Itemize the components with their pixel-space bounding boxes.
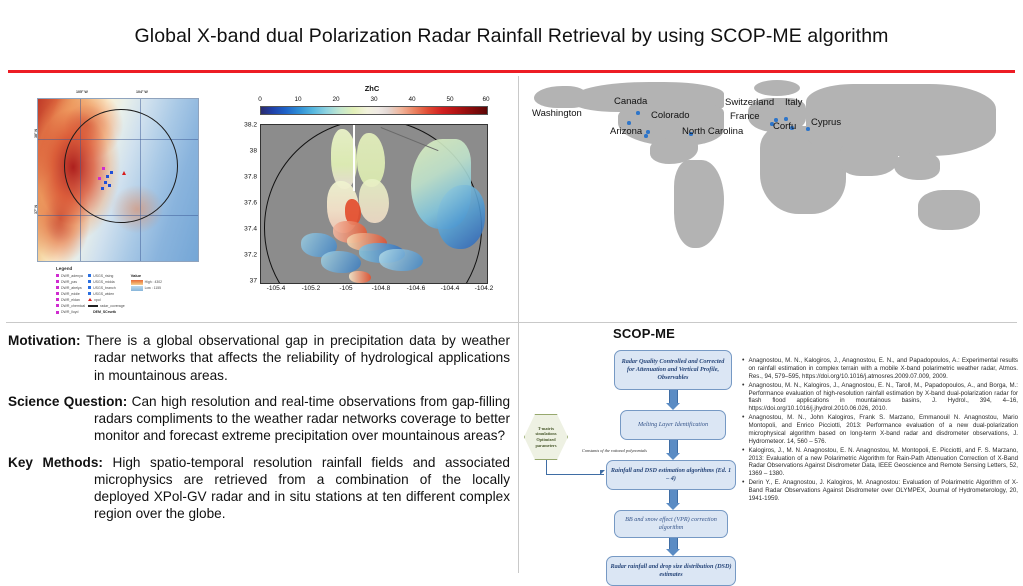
flow-arrow-1-head [666, 403, 680, 410]
science-question-paragraph: Science Question: Can high resolution an… [8, 393, 510, 445]
magenta-square-icon [56, 286, 59, 289]
ppi-y-tick: 37.8 [233, 174, 257, 181]
blue-square-icon [88, 280, 91, 283]
landmass-south-america [674, 160, 724, 248]
legend-label: DWR_eldan [61, 298, 80, 302]
motivation-text: There is a global observational gap in p… [86, 333, 510, 383]
legend-item: DWR_pas [56, 279, 85, 284]
flow-step-5: Radar rainfall and drop size distributio… [606, 556, 736, 586]
low-color-swatch [131, 286, 143, 291]
bullet-icon: • [742, 382, 744, 413]
ppi-x-tick: -105.2 [302, 285, 321, 292]
location-label-washington: Washington [532, 108, 582, 119]
science-question-label: Science Question: [8, 394, 127, 409]
value-title: Value [131, 273, 162, 278]
ppi-y-tick: 37.4 [233, 226, 257, 233]
colorbar-tick: 50 [446, 96, 453, 103]
legend-item: USGS_widen [88, 291, 125, 296]
top-vertical-divider [518, 76, 519, 322]
legend-label: USGS_widen [93, 292, 114, 296]
reference-text: Kalogiros, J., M. N. Anagnostou, E. N. A… [748, 447, 1018, 478]
flow-step-4: BB and snow effect (VPR) correction algo… [614, 510, 728, 538]
reference-text: Anagnostou, M. N., John Kalogiros, Frank… [748, 414, 1018, 445]
blue-square-icon [88, 286, 91, 289]
legend-item: DWR_abelya [56, 285, 85, 290]
ppi-title: ZhC [236, 84, 508, 93]
page-title: Global X-band dual Polarization Radar Ra… [135, 25, 889, 48]
magenta-square-icon [56, 280, 59, 283]
ppi-x-tick: -104.4 [441, 285, 460, 292]
location-label-arizona: Arizona [610, 126, 642, 137]
landmass-india [840, 140, 898, 176]
reference-item: •Anagnostou, M. N., Kalogiros, J., Anagn… [742, 357, 1018, 380]
key-methods-text: High spatio-temporal resolution rainfall… [94, 455, 510, 522]
bullet-icon: • [742, 357, 744, 380]
location-label-italy: Italy [785, 97, 802, 108]
hex-arrow-label: Constants of the rational polynomials [582, 448, 647, 453]
red-triangle-icon [88, 298, 92, 301]
reference-item: •Anagnostou, M. N., Kalogiros, J., Anagn… [742, 382, 1018, 413]
ppi-y-tick: 38 [233, 148, 257, 155]
title-red-divider [8, 70, 1015, 73]
flow-arrow-2-head [666, 453, 680, 460]
station-marker [106, 175, 109, 178]
scop-me-title: SCOP-ME [524, 326, 764, 341]
poster-root: Global X-band dual Polarization Radar Ra… [0, 0, 1023, 574]
location-label-corfu: Corfu [773, 121, 796, 132]
legend-label: xpol [94, 298, 100, 302]
flow-arrow-4-head [666, 549, 680, 556]
bottom-vertical-divider [518, 323, 519, 573]
value-low-row: Low : 1155 [131, 285, 162, 291]
colorbar-tick: 0 [258, 96, 262, 103]
key-methods-label: Key Methods: [8, 455, 103, 470]
station-marker [102, 167, 105, 170]
reflectivity-colorbar [260, 106, 488, 115]
flow-step-1: Radar Quality Controlled and Corrected f… [614, 350, 732, 390]
ppi-y-tick: 37.6 [233, 200, 257, 207]
legend-item: DWR_eddie [56, 291, 85, 296]
legend-title: Legend [56, 266, 204, 271]
legend-item: DWR_lloyd [56, 310, 85, 315]
legend-label: DWR_chemical [61, 304, 85, 308]
world-map-panel: Canada Washington Colorado Arizona North… [522, 78, 1021, 320]
legend-label: radar_coverage [100, 304, 125, 308]
value-high-label: High : 4302 [145, 280, 162, 284]
ppi-x-tick: -105.4 [267, 285, 286, 292]
bullet-icon: • [742, 447, 744, 478]
station-marker [101, 187, 104, 190]
line-icon [88, 305, 98, 306]
terrain-top-label-0: 105° W [76, 90, 88, 94]
colorbar-tick: 60 [482, 96, 489, 103]
legend-item: USGS_branch [88, 285, 125, 290]
reference-item: •Derin Y., E. Anagnostou, J. Kalogiros, … [742, 479, 1018, 502]
location-dot-washington [627, 121, 631, 125]
landmass-southeast-asia [894, 152, 940, 180]
reference-text: Anagnostou, M. N., Kalogiros, J., Anagno… [748, 357, 1018, 380]
radar-coverage-circle [64, 109, 178, 223]
key-methods-paragraph: Key Methods: High spatio-temporal resolu… [8, 454, 510, 523]
value-low-label: Low : 1155 [145, 286, 161, 290]
location-label-colorado: Colorado [651, 110, 690, 121]
colorbar-tick: 30 [370, 96, 377, 103]
terrain-map-panel: 105° W 104° W 38° N 37° N Legend DWR_ade… [24, 86, 204, 318]
ppi-y-tick: 37 [233, 278, 257, 285]
legend-column-2: USGS_rising USGS_midda USGS_branch USGS_… [88, 273, 125, 315]
legend-label: DWR_adenya [61, 274, 83, 278]
reference-text: Anagnostou, M. N., Kalogiros, J., Anagno… [748, 382, 1018, 413]
colorbar-tick: 20 [332, 96, 339, 103]
terrain-legend: Legend DWR_adenya DWR_pas DWR_abelya DWR… [56, 266, 204, 315]
legend-item: DEM_SCrsetk [88, 310, 125, 315]
colorbar-tick: 10 [294, 96, 301, 103]
legend-item: USGS_midda [88, 279, 125, 284]
motivation-label: Motivation: [8, 333, 81, 348]
legend-item: DWR_adenya [56, 273, 85, 278]
echo-region [349, 271, 371, 283]
flow-step-2: Melting Layer Identification [620, 410, 726, 440]
magenta-square-icon [56, 298, 59, 301]
reference-item: •Kalogiros, J., M. N. Anagnostou, E. N. … [742, 447, 1018, 478]
ppi-y-tick: 37.2 [233, 252, 257, 259]
high-color-swatch [131, 280, 143, 285]
ppi-plot-area [260, 124, 488, 284]
spacer-icon [88, 311, 91, 314]
ppi-x-tick: -104.6 [407, 285, 426, 292]
station-marker [108, 184, 111, 187]
location-label-cyprus: Cyprus [811, 117, 841, 128]
terrain-dem-image [37, 98, 199, 262]
location-dot-arizona [644, 134, 648, 138]
blue-square-icon [88, 292, 91, 295]
legend-item: USGS_rising [88, 273, 125, 278]
location-label-canada: Canada [614, 96, 647, 107]
magenta-square-icon [56, 292, 59, 295]
colorbar-tick: 40 [408, 96, 415, 103]
legend-label: DWR_pas [61, 280, 77, 284]
echo-region [359, 179, 389, 223]
location-dot-canada [636, 111, 640, 115]
station-marker [98, 177, 101, 180]
legend-item: xpol [88, 297, 125, 302]
legend-label: USGS_branch [93, 286, 116, 290]
legend-label: DWR_eddie [61, 292, 80, 296]
hex-arrow-head [600, 470, 610, 475]
t-matrix-hexagon: T-matrix simulations Optimized parameter… [524, 414, 568, 460]
legend-item: radar_coverage [88, 303, 125, 308]
magenta-square-icon [56, 304, 59, 307]
location-label-switzerland: Switzerland [725, 97, 774, 108]
landmass-australia [918, 190, 980, 230]
legend-value-ramp: Value High : 4302 Low : 1155 [131, 273, 162, 315]
horizontal-divider [6, 322, 1017, 323]
legend-item: DWR_eldan [56, 297, 85, 302]
legend-label: DWR_abelya [61, 286, 82, 290]
hex-connector-vertical [546, 460, 547, 475]
bullet-icon: • [742, 414, 744, 445]
hex-connector-horizontal [546, 474, 604, 475]
ppi-x-tick: -104.8 [372, 285, 391, 292]
flow-step-3: Rainfall and DSD estimation algorithms (… [606, 460, 736, 490]
station-marker [110, 171, 113, 174]
legend-label: USGS_rising [93, 274, 113, 278]
radial-gap-line [353, 125, 355, 191]
legend-label: USGS_midda [93, 280, 114, 284]
station-marker [104, 181, 107, 184]
echo-region [437, 185, 485, 249]
motivation-paragraph: Motivation: There is a global observatio… [8, 332, 510, 384]
poster-title-bar: Global X-band dual Polarization Radar Ra… [0, 0, 1023, 72]
reference-text: Derin Y., E. Anagnostou, J. Kalogiros, M… [748, 479, 1018, 502]
reference-item: •Anagnostou, M. N., John Kalogiros, Fran… [742, 414, 1018, 445]
legend-label: DEM_SCrsetk [93, 310, 116, 314]
location-label-france: France [730, 111, 760, 122]
terrain-top-label-1: 104° W [136, 90, 148, 94]
summary-text-column: Motivation: There is a global observatio… [8, 332, 510, 532]
location-dot-cyprus [806, 127, 810, 131]
magenta-square-icon [56, 311, 59, 314]
legend-label: DWR_lloyd [61, 310, 79, 314]
legend-item: DWR_chemical [56, 303, 85, 308]
ppi-y-tick: 38.2 [233, 122, 257, 129]
ppi-x-tick: -105 [339, 285, 352, 292]
ppi-x-tick: -104.2 [475, 285, 494, 292]
landmass-scandinavia [754, 80, 800, 96]
radar-ppi-panel: ZhC 0 10 20 30 40 50 60 38.2 38 37.8 37.… [236, 84, 508, 320]
flow-arrow-3-head [666, 503, 680, 510]
xpol-radar-marker [122, 171, 126, 175]
legend-column-1: DWR_adenya DWR_pas DWR_abelya DWR_eddie … [56, 273, 85, 315]
science-question-text: Can high resolution and real-time observ… [94, 394, 510, 444]
echo-region [379, 249, 423, 271]
references-list: •Anagnostou, M. N., Kalogiros, J., Anagn… [742, 357, 1018, 504]
location-label-north-carolina: North Carolina [682, 126, 743, 137]
blue-square-icon [88, 274, 91, 277]
bullet-icon: • [742, 479, 744, 502]
landmass-alaska [534, 86, 586, 108]
magenta-square-icon [56, 274, 59, 277]
echo-region [321, 251, 361, 273]
